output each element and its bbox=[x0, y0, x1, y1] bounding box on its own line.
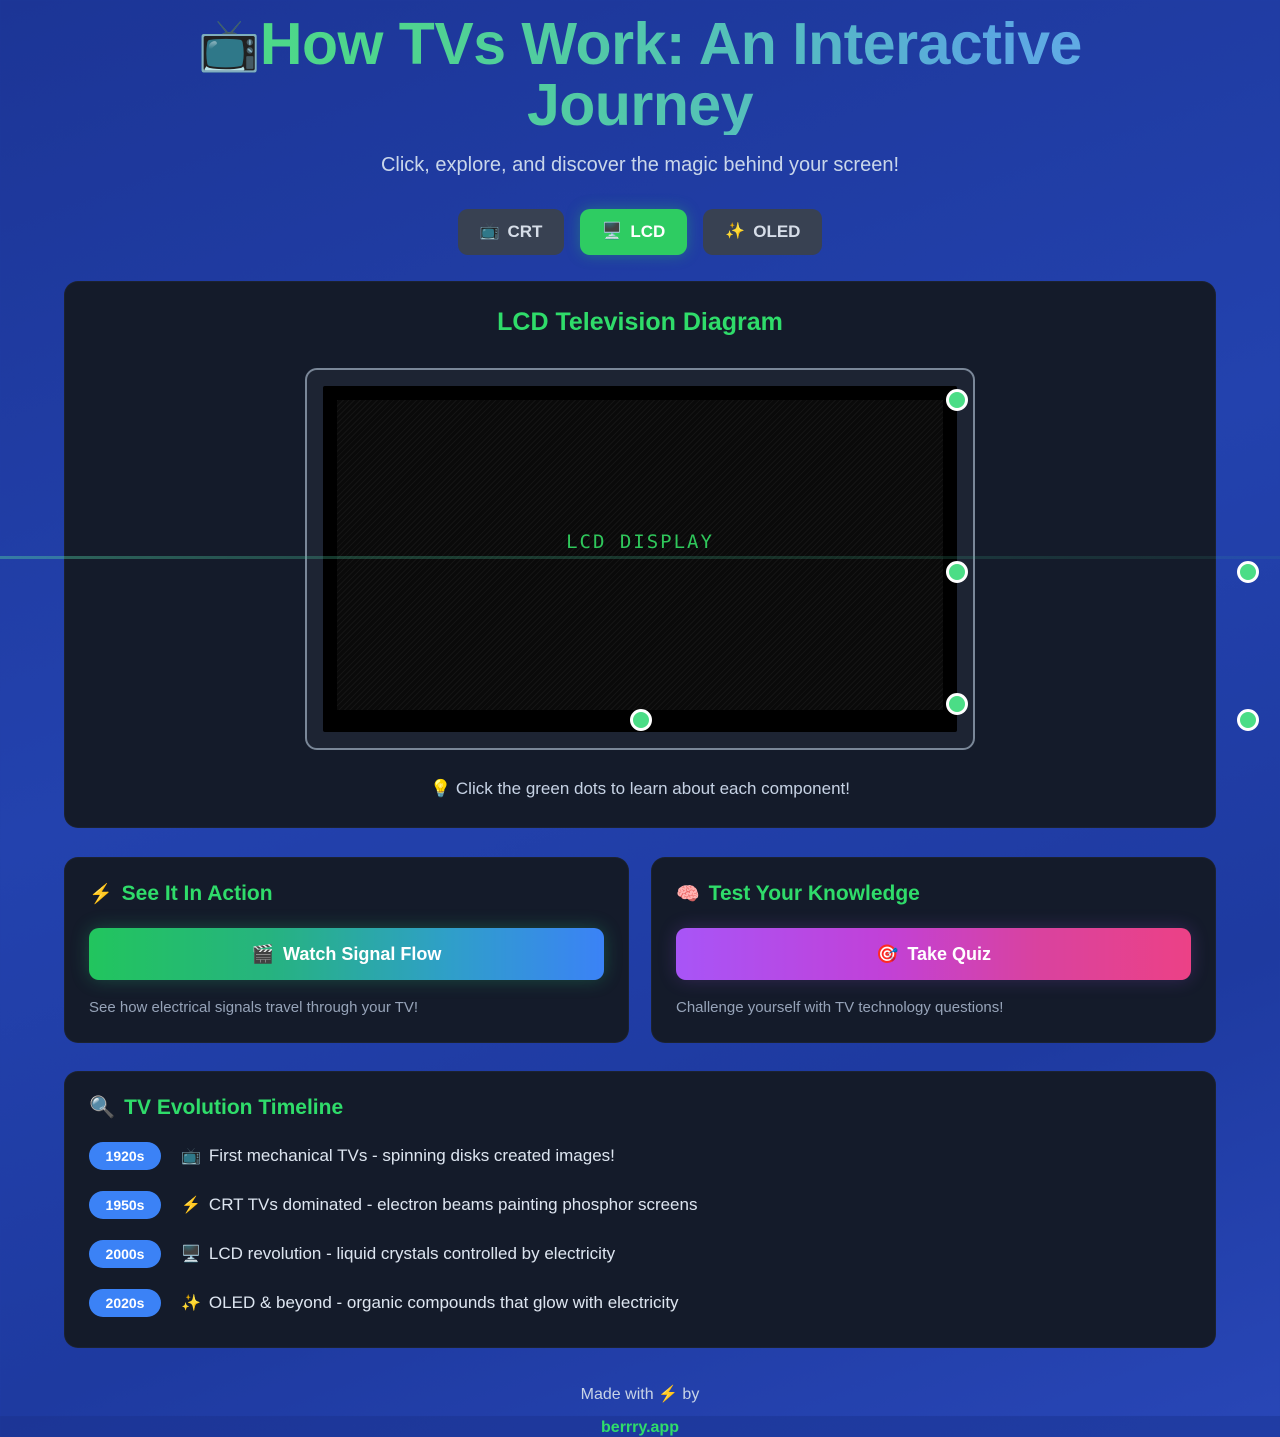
timeline-list: 1920s📺First mechanical TVs - spinning di… bbox=[89, 1142, 1191, 1317]
lightbulb-icon: 💡 bbox=[430, 779, 451, 798]
magnifier-icon: 🔍 bbox=[89, 1096, 115, 1120]
hotspot-top-center[interactable] bbox=[946, 389, 968, 411]
test-your-knowledge-note: Challenge yourself with TV technology qu… bbox=[676, 999, 1191, 1016]
action-card-row: ⚡ See It In Action 🎬 Watch Signal Flow S… bbox=[64, 857, 1216, 1043]
timeline-item-text: 🖥️LCD revolution - liquid crystals contr… bbox=[181, 1244, 615, 1264]
diagram-hint: 💡 Click the green dots to learn about ea… bbox=[65, 779, 1215, 799]
tab-lcd-label: LCD bbox=[630, 222, 665, 242]
page-title: 📺How TVs Work: An Interactive Journey bbox=[64, 14, 1216, 135]
take-quiz-label: Take Quiz bbox=[907, 944, 991, 965]
timeline-item: 2000s🖥️LCD revolution - liquid crystals … bbox=[89, 1240, 1191, 1268]
test-your-knowledge-heading: 🧠 Test Your Knowledge bbox=[676, 882, 1191, 906]
tab-crt-label: CRT bbox=[507, 222, 542, 242]
screen-label: LCD DISPLAY bbox=[566, 531, 714, 553]
tab-oled-label: OLED bbox=[753, 222, 800, 242]
timeline-item-icon: 🖥️ bbox=[181, 1244, 201, 1264]
timeline-item-label: LCD revolution - liquid crystals control… bbox=[209, 1244, 615, 1264]
hotspot-center[interactable] bbox=[946, 561, 968, 583]
timeline-item-icon: ⚡ bbox=[181, 1195, 201, 1215]
see-it-in-action-heading: ⚡ See It In Action bbox=[89, 882, 604, 906]
see-it-in-action-note: See how electrical signals travel throug… bbox=[89, 999, 604, 1016]
footer-by: by bbox=[682, 1386, 699, 1403]
tab-lcd[interactable]: 🖥️ LCD bbox=[580, 209, 687, 255]
timeline-era-badge: 1920s bbox=[89, 1142, 161, 1170]
page-footer: Made with ⚡ by berrry.app bbox=[64, 1384, 1216, 1437]
timeline-item-icon: ✨ bbox=[181, 1293, 201, 1313]
crt-tv-icon: 📺 bbox=[480, 224, 500, 240]
timeline-era-badge: 2000s bbox=[89, 1240, 161, 1268]
timeline-item-label: First mechanical TVs - spinning disks cr… bbox=[209, 1146, 615, 1166]
timeline-item-label: CRT TVs dominated - electron beams paint… bbox=[209, 1195, 698, 1215]
timeline-item: 1950s⚡CRT TVs dominated - electron beams… bbox=[89, 1191, 1191, 1219]
tech-tab-bar: 📺 CRT 🖥️ LCD ✨ OLED bbox=[64, 209, 1216, 255]
lcd-monitor-icon: 🖥️ bbox=[602, 224, 622, 240]
test-your-knowledge-card: 🧠 Test Your Knowledge 🎯 Take Quiz Challe… bbox=[651, 857, 1216, 1043]
hotspot-right[interactable] bbox=[1237, 561, 1259, 583]
footer-made-with: Made with bbox=[581, 1386, 654, 1403]
tab-crt[interactable]: 📺 CRT bbox=[458, 209, 565, 255]
sparkles-icon: ✨ bbox=[725, 224, 745, 240]
see-it-in-action-title: See It In Action bbox=[122, 882, 273, 906]
take-quiz-button[interactable]: 🎯 Take Quiz bbox=[676, 928, 1191, 980]
timeline-era-badge: 2020s bbox=[89, 1289, 161, 1317]
timeline-item: 1920s📺First mechanical TVs - spinning di… bbox=[89, 1142, 1191, 1170]
page-title-text: How TVs Work: An Interactive Journey bbox=[260, 11, 1082, 138]
tab-oled[interactable]: ✨ OLED bbox=[703, 209, 822, 255]
diagram-hint-text: Click the green dots to learn about each… bbox=[456, 779, 850, 798]
diagram-title: LCD Television Diagram bbox=[65, 308, 1215, 337]
watch-signal-flow-label: Watch Signal Flow bbox=[283, 944, 441, 965]
hotspot-bottom-center[interactable] bbox=[946, 693, 968, 715]
footer-credit: Made with ⚡ by bbox=[64, 1384, 1216, 1404]
page-root: 📺How TVs Work: An Interactive Journey Cl… bbox=[0, 0, 1280, 1437]
tv-illustration: LCD DISPLAY bbox=[305, 368, 975, 750]
hotspot-bottom-left[interactable] bbox=[630, 709, 652, 731]
timeline-item-label: OLED & beyond - organic compounds that g… bbox=[209, 1293, 679, 1313]
clapperboard-icon: 🎬 bbox=[252, 944, 274, 965]
bolt-icon: ⚡ bbox=[658, 1386, 678, 1403]
timeline-item-text: 📺First mechanical TVs - spinning disks c… bbox=[181, 1146, 615, 1166]
timeline-item-text: ✨OLED & beyond - organic compounds that … bbox=[181, 1293, 679, 1313]
footer-link[interactable]: berrry.app bbox=[601, 1419, 679, 1437]
timeline-heading: 🔍 TV Evolution Timeline bbox=[89, 1096, 1191, 1120]
timeline-item: 2020s✨OLED & beyond - organic compounds … bbox=[89, 1289, 1191, 1317]
tv-screen: LCD DISPLAY bbox=[337, 400, 943, 710]
bolt-icon: ⚡ bbox=[89, 882, 113, 906]
test-your-knowledge-title: Test Your Knowledge bbox=[709, 882, 920, 906]
timeline-title: TV Evolution Timeline bbox=[124, 1096, 343, 1120]
hotspot-bottom-right[interactable] bbox=[1237, 709, 1259, 731]
brain-icon: 🧠 bbox=[676, 882, 700, 906]
timeline-item-text: ⚡CRT TVs dominated - electron beams pain… bbox=[181, 1195, 697, 1215]
target-icon: 🎯 bbox=[876, 944, 898, 965]
timeline-panel: 🔍 TV Evolution Timeline 1920s📺First mech… bbox=[64, 1071, 1216, 1348]
see-it-in-action-card: ⚡ See It In Action 🎬 Watch Signal Flow S… bbox=[64, 857, 629, 1043]
page-header: 📺How TVs Work: An Interactive Journey Cl… bbox=[64, 0, 1216, 177]
tv-bezel: LCD DISPLAY bbox=[305, 368, 975, 750]
tv-icon: 📺 bbox=[198, 17, 260, 73]
page-subtitle: Click, explore, and discover the magic b… bbox=[64, 154, 1216, 177]
timeline-item-icon: 📺 bbox=[181, 1146, 201, 1166]
tv-inner-frame: LCD DISPLAY bbox=[323, 386, 957, 732]
watch-signal-flow-button[interactable]: 🎬 Watch Signal Flow bbox=[89, 928, 604, 980]
timeline-era-badge: 1950s bbox=[89, 1191, 161, 1219]
diagram-panel: LCD Television Diagram LCD DISPLAY 💡 Cli… bbox=[64, 281, 1216, 828]
